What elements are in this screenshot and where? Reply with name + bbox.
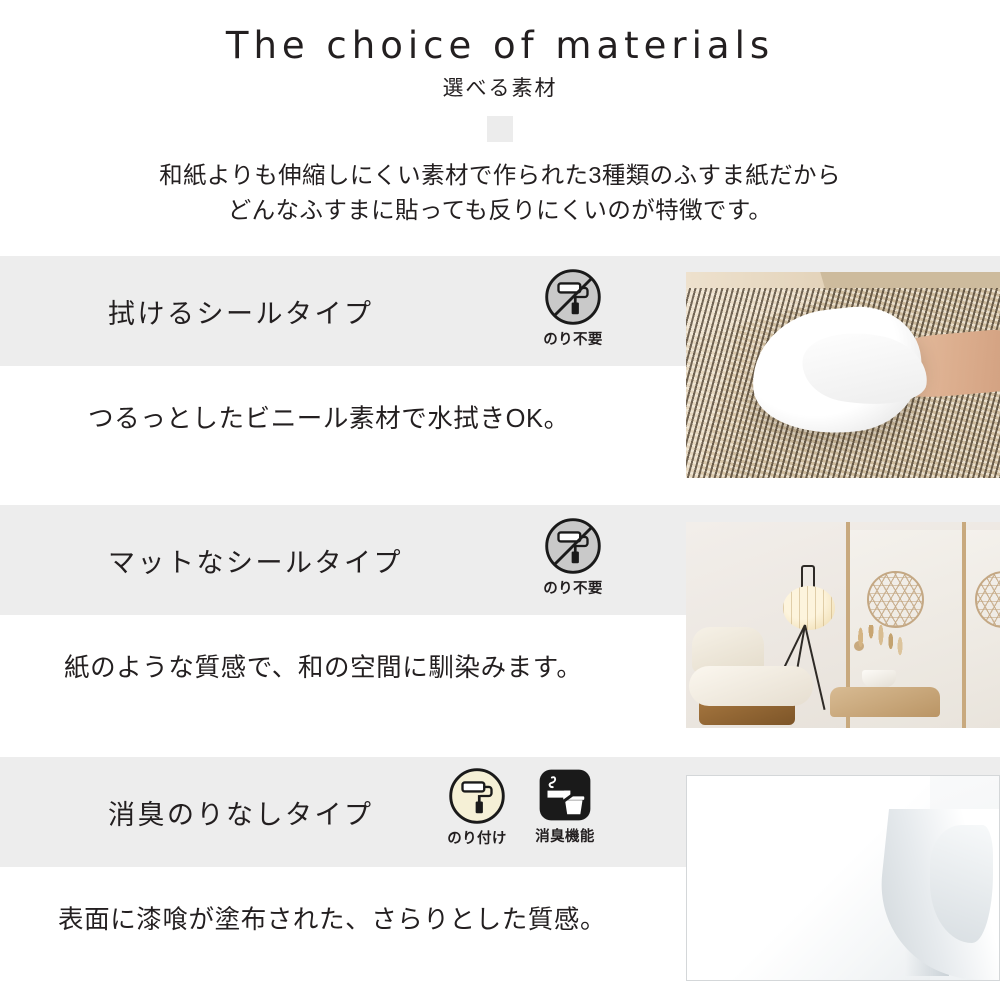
lead-line-2: どんなふすまに貼っても反りにくいのが特徴です。: [0, 193, 1000, 229]
curled-white-paper-sheet-photo: [686, 775, 1000, 981]
no-glue-roller-icon: [544, 517, 602, 575]
section-badges: のり不要: [536, 268, 610, 349]
page-header: The choice of materials 選べる素材 和紙よりも伸縮しにく…: [0, 0, 1000, 229]
section-title: 拭けるシールタイプ: [108, 292, 374, 331]
badge-label: のり付け: [440, 827, 514, 848]
page-lead-text: 和紙よりも伸縮しにくい素材で作られた3種類のふすま紙だから どんなふすまに貼って…: [0, 158, 1000, 229]
badge-no-glue: のり不要: [536, 268, 610, 349]
japanese-interior-room-photo: [686, 522, 1000, 728]
section-badges: のり不要: [536, 517, 610, 598]
badge-deodorize: 消臭機能: [528, 767, 602, 846]
lead-line-1: 和紙よりも伸縮しにくい素材で作られた3種類のふすま紙だから: [0, 158, 1000, 194]
towel-wiping-woven-mat-photo: [686, 272, 1000, 478]
glue-roller-icon: [448, 767, 506, 825]
page-title-japanese: 選べる素材: [0, 76, 1000, 101]
materials-info-page: The choice of materials 選べる素材 和紙よりも伸縮しにく…: [0, 0, 1000, 1000]
no-glue-roller-icon: [544, 268, 602, 326]
badge-label: のり不要: [536, 577, 610, 598]
badge-label: のり不要: [536, 328, 610, 349]
square-divider-icon: [487, 116, 513, 142]
deodorize-smoke-trash-icon: [537, 767, 593, 823]
section-title: 消臭のりなしタイプ: [108, 793, 374, 832]
section-title: マットなシールタイプ: [108, 541, 403, 580]
badge-label: 消臭機能: [528, 825, 602, 846]
section-badges: のり付け 消臭機能: [440, 767, 602, 848]
badge-glue-needed: のり付け: [440, 767, 514, 848]
page-title-english: The choice of materials: [0, 24, 1000, 68]
badge-no-glue: のり不要: [536, 517, 610, 598]
